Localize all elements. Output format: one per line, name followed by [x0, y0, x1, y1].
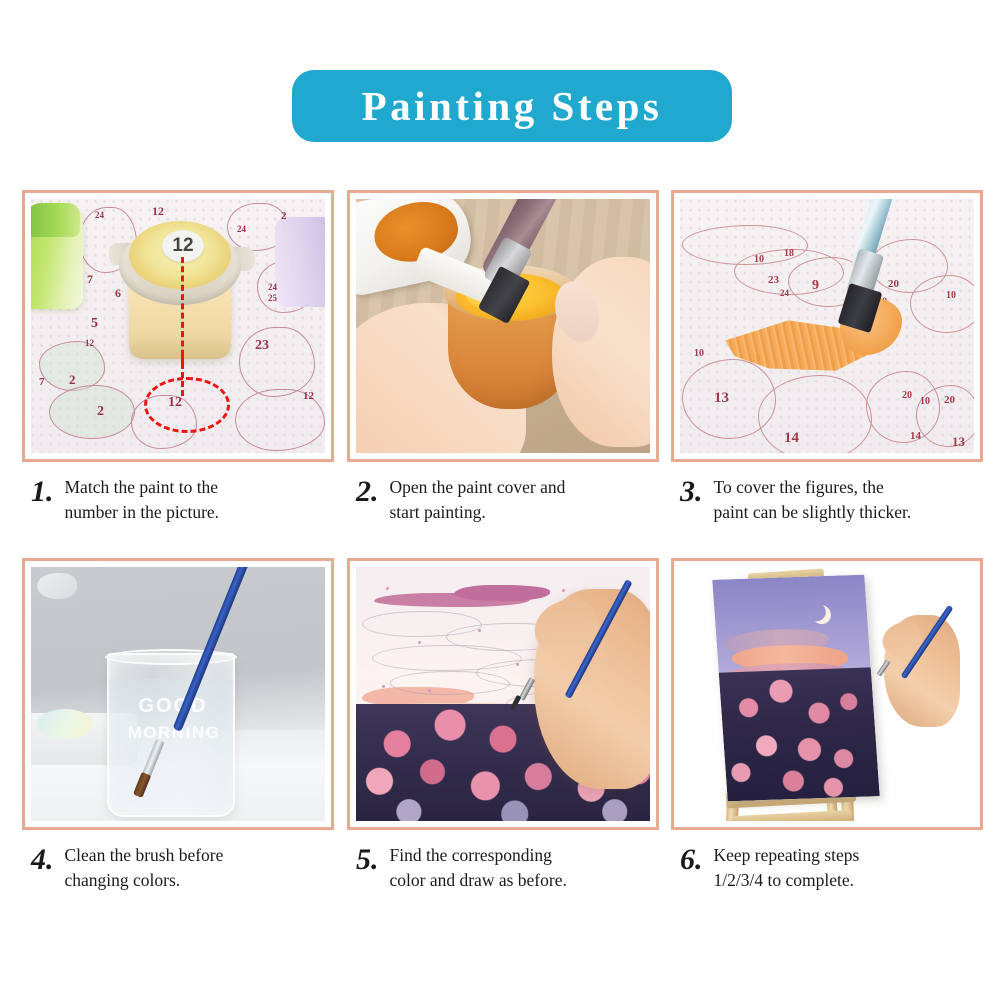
step-2-caption-line2: start painting. — [390, 502, 486, 522]
step-4-caption-line1: Clean the brush before — [65, 845, 224, 865]
step-1-photo: 12 24 2 24 7 6 5 12 24 25 23 2 7 2 12 — [31, 199, 325, 453]
region-dot — [478, 629, 481, 632]
canvas-number: 23 — [255, 339, 269, 353]
canvas-number: 7 — [39, 377, 45, 388]
step-3-caption-line2: paint can be slightly thicker. — [714, 502, 912, 522]
step-1-caption-text: Match the paint to the number in the pic… — [65, 475, 220, 526]
canvas-number: 23 — [768, 275, 779, 286]
step-2-number: 2. — [356, 475, 379, 507]
painting-steps-infographic: Painting Steps 12 24 — [0, 0, 1000, 1000]
annotation-dashed-line — [181, 257, 184, 365]
canvas-number: 7 — [87, 273, 93, 285]
canvas-number: 9 — [812, 279, 819, 293]
step-6-caption-line2: 1/2/3/4 to complete. — [714, 870, 854, 890]
page-title-banner: Painting Steps — [292, 70, 732, 142]
canvas-region-shape — [758, 375, 872, 453]
step-4-caption: 4. Clean the brush before changing color… — [22, 843, 334, 894]
finished-painting-canvas — [712, 575, 879, 802]
step-1-number: 1. — [31, 475, 54, 507]
step-1-caption: 1. Match the paint to the number in the … — [22, 475, 334, 526]
step-1-caption-line1: Match the paint to the — [65, 477, 219, 497]
background-object — [37, 573, 77, 599]
canvas-number: 12 — [85, 339, 94, 348]
step-4-caption-line2: changing colors. — [65, 870, 181, 890]
canvas-number: 20 — [902, 391, 912, 401]
step-4-photo: GOOD MORNING — [31, 567, 325, 821]
canvas-region-shape — [390, 671, 510, 695]
canvas-number: 24 — [237, 225, 246, 234]
canvas-number: 20 — [888, 279, 899, 290]
step-5-caption: 5. Find the corresponding color and draw… — [347, 843, 659, 894]
step-5-number: 5. — [356, 843, 379, 875]
step-1-caption-line2: number in the picture. — [65, 502, 220, 522]
canvas-number: 10 — [946, 291, 956, 301]
canvas-number: 2 — [97, 405, 104, 419]
canvas-number: 24 — [268, 283, 277, 292]
page-title: Painting Steps — [362, 82, 663, 130]
step-2-photo-frame — [347, 190, 659, 462]
step-4-caption-text: Clean the brush before changing colors. — [65, 843, 224, 894]
step-1-photo-frame: 12 24 2 24 7 6 5 12 24 25 23 2 7 2 12 — [22, 190, 334, 462]
step-card-3: 10 18 23 24 9 20 19 10 10 20 13 20 10 20… — [671, 190, 983, 526]
canvas-number: 10 — [920, 397, 930, 407]
canvas-number: 10 — [754, 255, 764, 265]
step-2-photo — [356, 199, 650, 453]
canvas-number: 5 — [91, 317, 98, 331]
step-5-caption-line2: color and draw as before. — [390, 870, 567, 890]
tray-object — [37, 709, 93, 739]
step-3-caption-text: To cover the figures, the paint can be s… — [714, 475, 912, 526]
step-2-caption: 2. Open the paint cover and start painti… — [347, 475, 659, 526]
canvas-number: 2 — [69, 373, 76, 386]
step-2-caption-line1: Open the paint cover and — [390, 477, 566, 497]
region-dot — [418, 641, 421, 644]
step-card-6: 6. Keep repeating steps 1/2/3/4 to compl… — [671, 558, 983, 894]
canvas-number: 18 — [784, 249, 794, 259]
step-card-4: GOOD MORNING 4. Clean the brush before c… — [22, 558, 334, 894]
purple-paint-pot — [275, 217, 325, 307]
canvas-number: 14 — [910, 431, 921, 442]
region-dot — [382, 685, 385, 688]
green-paint-pot-lid — [31, 203, 80, 237]
painted-cloud-band — [454, 585, 550, 601]
canvas-number: 20 — [944, 395, 955, 406]
step-card-2: 2. Open the paint cover and start painti… — [347, 190, 659, 526]
step-6-caption: 6. Keep repeating steps 1/2/3/4 to compl… — [671, 843, 983, 894]
canvas-number: 6 — [115, 287, 121, 299]
step-3-caption: 3. To cover the figures, the paint can b… — [671, 475, 983, 526]
annotation-highlight-ellipse — [144, 377, 230, 433]
canvas-region-shape — [49, 385, 135, 439]
canvas-number: 12 — [152, 205, 164, 217]
region-dot — [428, 689, 431, 692]
region-dot — [386, 587, 389, 590]
canvas-number: 13 — [714, 391, 729, 406]
step-card-5: 5. Find the corresponding color and draw… — [347, 558, 659, 894]
glass-rim — [105, 649, 237, 665]
canvas-number: 12 — [303, 391, 314, 402]
canvas-region-shape — [239, 327, 315, 397]
canvas-number: 10 — [694, 349, 704, 359]
step-6-number: 6. — [680, 843, 703, 875]
canvas-number: 14 — [784, 431, 799, 446]
step-6-caption-text: Keep repeating steps 1/2/3/4 to complete… — [714, 843, 860, 894]
step-6-caption-line1: Keep repeating steps — [714, 845, 860, 865]
region-dot — [562, 589, 565, 592]
step-4-number: 4. — [31, 843, 54, 875]
step-5-caption-line1: Find the corresponding — [390, 845, 552, 865]
step-card-1: 12 24 2 24 7 6 5 12 24 25 23 2 7 2 12 — [22, 190, 334, 526]
canvas-number: 25 — [268, 294, 277, 303]
canvas-number: 24 — [95, 211, 104, 220]
step-5-caption-text: Find the corresponding color and draw as… — [390, 843, 567, 894]
step-3-number: 3. — [680, 475, 703, 507]
step-3-photo: 10 18 23 24 9 20 19 10 10 20 13 20 10 20… — [680, 199, 974, 453]
annotation-target-number: 12 — [168, 395, 182, 411]
step-6-photo — [680, 567, 974, 821]
step-6-photo-frame — [671, 558, 983, 830]
glass-text-line1: GOOD — [131, 695, 215, 718]
canvas-number: 2 — [281, 211, 287, 222]
step-3-photo-frame: 10 18 23 24 9 20 19 10 10 20 13 20 10 20… — [671, 190, 983, 462]
canvas-number: 24 — [780, 289, 789, 298]
canvas-number: 13 — [952, 435, 965, 448]
step-3-caption-line1: To cover the figures, the — [714, 477, 884, 497]
step-5-photo — [356, 567, 650, 821]
step-4-photo-frame: GOOD MORNING — [22, 558, 334, 830]
step-2-caption-text: Open the paint cover and start painting. — [390, 475, 566, 526]
painting-cherry-blossoms — [719, 668, 880, 802]
region-dot — [516, 663, 519, 666]
step-5-photo-frame — [347, 558, 659, 830]
